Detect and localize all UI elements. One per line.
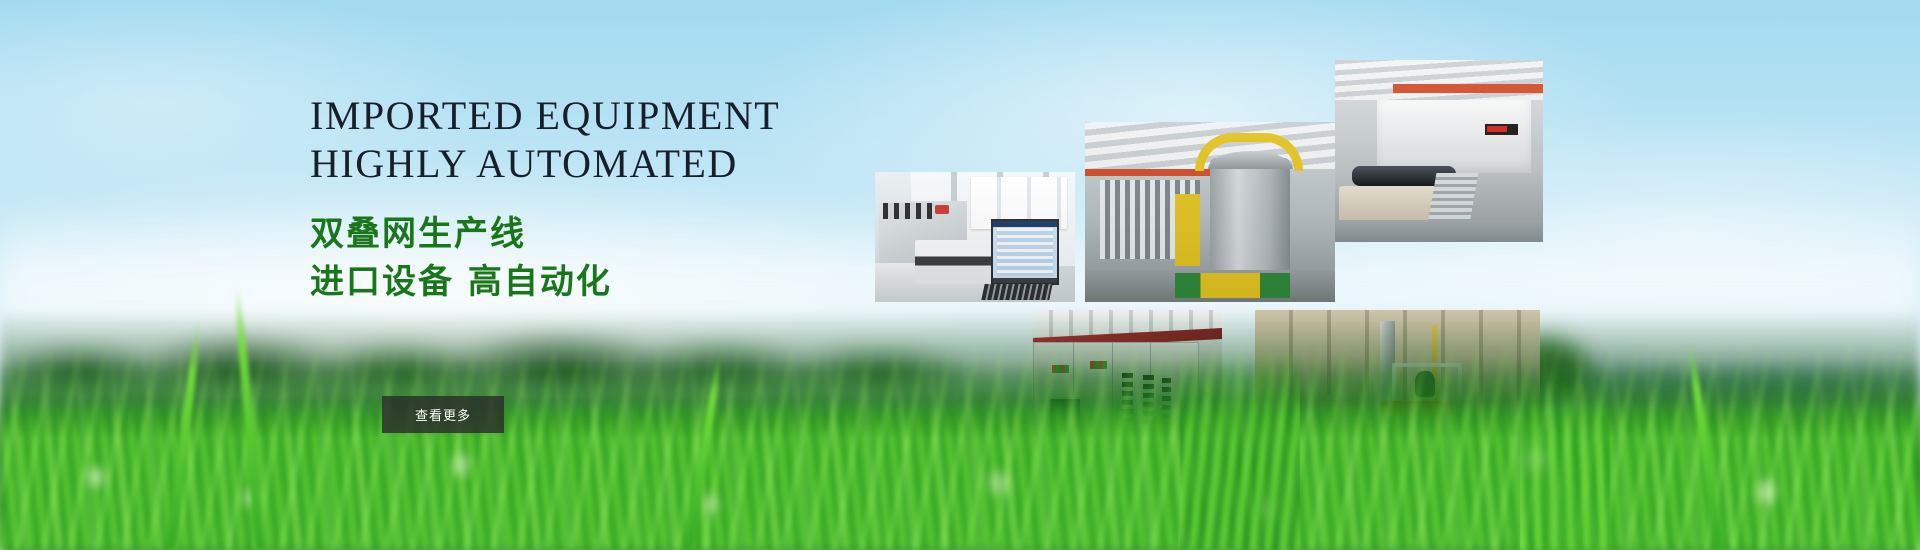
hero-banner: IMPORTED EQUIPMENT HIGHLY AUTOMATED 双叠网生… bbox=[0, 0, 1920, 550]
headline-en-line-2: HIGHLY AUTOMATED bbox=[310, 140, 870, 188]
paper-machine-photo[interactable] bbox=[1335, 60, 1543, 242]
control-room-photo[interactable] bbox=[875, 172, 1075, 302]
pulp-digester-photo[interactable] bbox=[1085, 122, 1335, 302]
headline-cn-line-2: 进口设备 高自动化 bbox=[310, 258, 870, 306]
grass-flowers bbox=[0, 390, 1920, 540]
headline-cn-line-1: 双叠网生产线 bbox=[310, 210, 870, 258]
headline-en-line-1: IMPORTED EQUIPMENT bbox=[310, 92, 870, 140]
view-more-button[interactable]: 查看更多 bbox=[382, 396, 504, 433]
headline-block: IMPORTED EQUIPMENT HIGHLY AUTOMATED 双叠网生… bbox=[310, 92, 870, 306]
